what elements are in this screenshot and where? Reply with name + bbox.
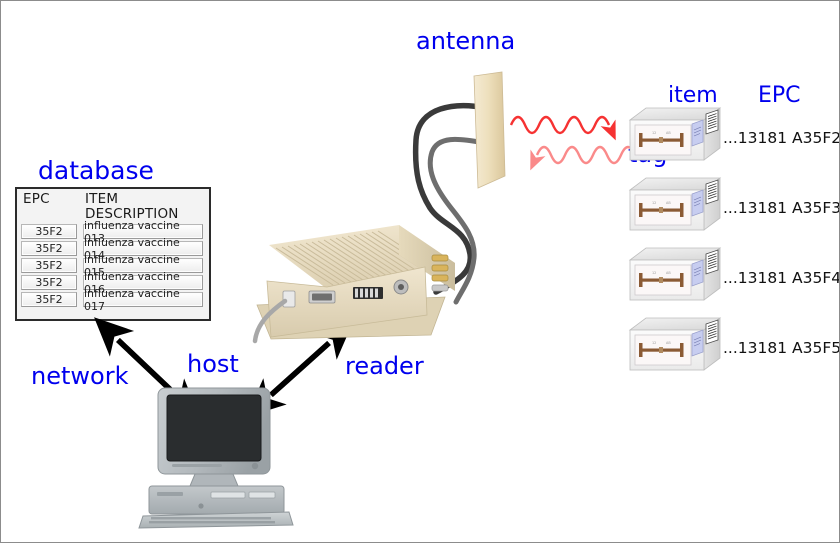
item-box: 12AB: [628, 316, 722, 378]
item-epc-value: ...13181 A35F5: [723, 339, 840, 357]
shipping-label: [692, 330, 703, 356]
svg-text:12: 12: [652, 271, 656, 275]
cell-epc: 35F2: [21, 224, 77, 239]
cd-drive: [249, 492, 275, 498]
cell-epc: 35F2: [21, 258, 77, 273]
diagram-canvas: antenna database network host reader tag…: [0, 0, 840, 543]
shipping-label: [692, 190, 703, 216]
svg-text:12: 12: [652, 131, 656, 135]
item-epc-value: ...13181 A35F3: [723, 199, 840, 217]
item-epc-value: ...13181 A35F2: [723, 129, 840, 147]
forward-wave: [511, 117, 609, 133]
table-header-row: EPC ITEM DESCRIPTION: [21, 192, 205, 222]
cell-epc: 35F2: [21, 292, 77, 307]
monitor-stand: [190, 474, 238, 486]
return-wave: [537, 147, 635, 163]
rf-signal-waves: [509, 105, 639, 173]
shipping-label: [692, 120, 703, 146]
monitor-screen: [167, 395, 261, 461]
svg-text:AB: AB: [666, 341, 671, 345]
svg-text:AB: AB: [666, 131, 671, 135]
item-box: 12AB: [628, 106, 722, 168]
label-item: item: [668, 83, 718, 108]
label-database: database: [38, 156, 154, 185]
antenna-panel: [472, 72, 506, 188]
svg-text:AB: AB: [666, 271, 671, 275]
label-reader: reader: [345, 352, 424, 380]
svg-text:12: 12: [652, 341, 656, 345]
rfid-reader-device: [249, 219, 461, 349]
host-computer: [137, 386, 297, 528]
svg-text:AB: AB: [666, 201, 671, 205]
cell-epc: 35F2: [21, 275, 77, 290]
shipping-label: [692, 260, 703, 286]
cell-description: influenza vaccine 017: [83, 292, 203, 307]
item-box: 12AB: [628, 176, 722, 238]
label-epc-column: EPC: [758, 83, 801, 108]
svg-text:12: 12: [652, 201, 656, 205]
database-table: EPC ITEM DESCRIPTION 35F2 influenza vacc…: [15, 187, 211, 321]
column-header-epc: EPC: [23, 192, 85, 222]
floppy-drive: [211, 492, 245, 498]
label-antenna: antenna: [416, 27, 515, 55]
item-box: 12AB: [628, 246, 722, 308]
table-row: 35F2 influenza vaccine 017: [21, 292, 205, 307]
computer-case: [149, 486, 284, 514]
label-host: host: [187, 350, 239, 378]
item-epc-value: ...13181 A35F4: [723, 269, 840, 287]
cell-epc: 35F2: [21, 241, 77, 256]
column-header-item-description: ITEM DESCRIPTION: [85, 192, 205, 222]
